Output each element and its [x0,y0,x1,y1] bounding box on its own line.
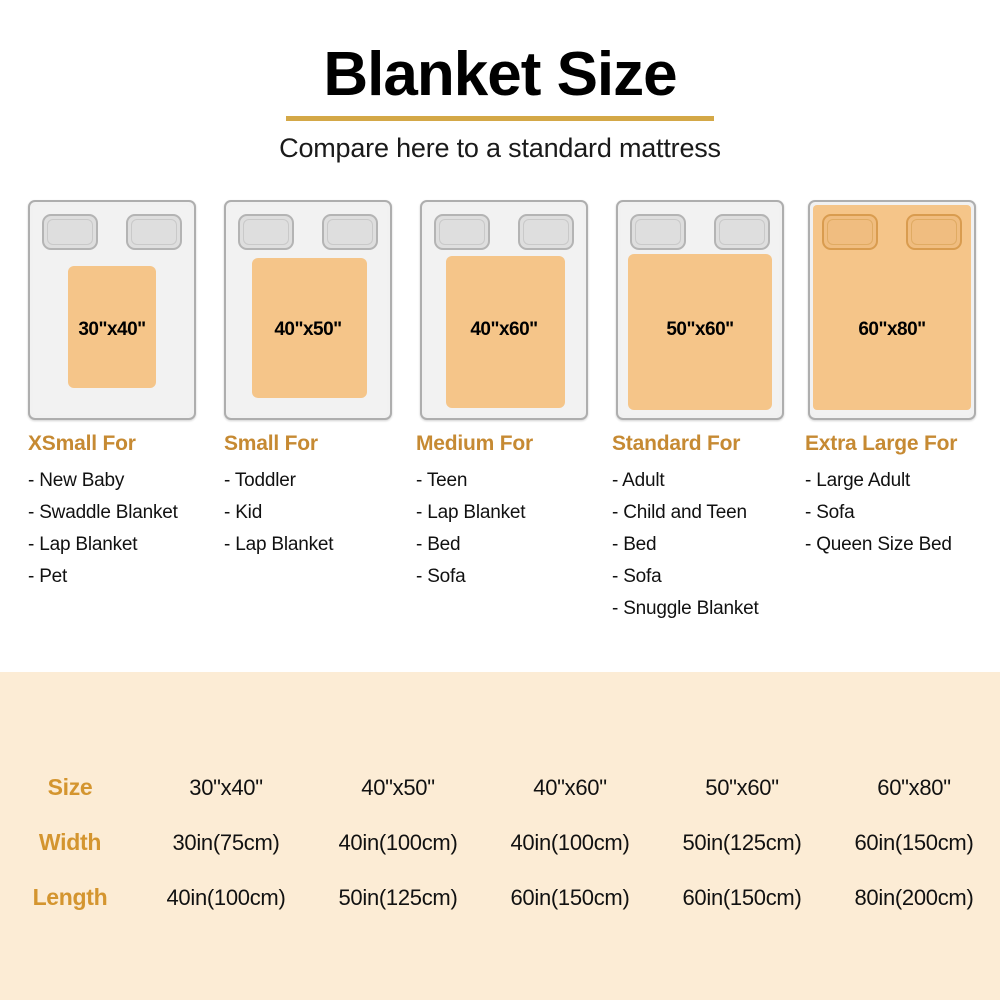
info-column-standard: Standard For - Adult - Child and Teen - … [612,432,759,630]
pillow-right-icon [518,214,574,250]
bed-diagram-xsmall: 30"x40" [28,200,196,420]
pillow-left-icon [630,214,686,250]
table-row-label: Width [0,815,140,870]
info-list-item: - Lap Blanket [28,534,178,556]
info-list-item: - Pet [28,566,178,588]
info-list-item: - Lap Blanket [416,502,533,524]
page-subtitle: Compare here to a standard mattress [0,133,1000,164]
table-cell: 80in(200cm) [828,870,1000,925]
info-list-item: - Bed [416,534,533,556]
table-cell: 60in(150cm) [656,870,828,925]
dimensions-panel: Size 30"x40" 40"x50" 40"x60" 50"x60" 60"… [0,672,1000,1000]
info-column-heading: Small For [224,432,333,456]
table-row: Length 40in(100cm) 50in(125cm) 60in(150c… [0,870,1000,925]
info-column-heading: Medium For [416,432,533,456]
table-cell: 40"x50" [312,760,484,815]
pillow-right-icon [714,214,770,250]
info-list-item: - Lap Blanket [224,534,333,556]
title-underline [286,116,714,121]
bed-diagram-standard: 50"x60" [616,200,784,420]
table-cell: 60"x80" [828,760,1000,815]
pillow-left-icon [238,214,294,250]
blanket-size-label: 40"x60" [420,319,588,341]
bed-diagram-medium: 40"x60" [420,200,588,420]
info-column-heading: Extra Large For [805,432,957,456]
table-row-label: Size [0,760,140,815]
pillow-right-icon [126,214,182,250]
info-list-item: - Sofa [416,566,533,588]
info-list-item: - Kid [224,502,333,524]
info-column-xsmall: XSmall For - New Baby - Swaddle Blanket … [28,432,178,598]
table-row: Width 30in(75cm) 40in(100cm) 40in(100cm)… [0,815,1000,870]
table-cell: 40"x60" [484,760,656,815]
info-column-heading: Standard For [612,432,759,456]
blanket-size-label: 50"x60" [616,319,784,341]
table-cell: 40in(100cm) [140,870,312,925]
table-cell: 60in(150cm) [484,870,656,925]
bed-diagram-small: 40"x50" [224,200,392,420]
blanket-size-label: 40"x50" [224,319,392,341]
table-row: Size 30"x40" 40"x50" 40"x60" 50"x60" 60"… [0,760,1000,815]
bed-diagram-extra-large: 60"x80" [808,200,976,420]
page-title: Blanket Size [323,44,676,114]
table-row-label: Length [0,870,140,925]
info-list-item: - Swaddle Blanket [28,502,178,524]
info-column-heading: XSmall For [28,432,178,456]
pillow-right-icon [322,214,378,250]
table-cell: 30in(75cm) [140,815,312,870]
table-cell: 50"x60" [656,760,828,815]
blanket-size-label: 60"x80" [808,319,976,341]
info-column-medium: Medium For - Teen - Lap Blanket - Bed - … [416,432,533,598]
bed-diagrams: 30"x40" 40"x50" 40"x60" 50"x60" [0,200,1000,425]
info-list-item: - Child and Teen [612,502,759,524]
info-list-item: - Bed [612,534,759,556]
blanket-size-label: 30"x40" [28,319,196,341]
table-cell: 40in(100cm) [312,815,484,870]
info-list-item: - Snuggle Blanket [612,598,759,620]
table-cell: 60in(150cm) [828,815,1000,870]
pillow-left-icon [42,214,98,250]
info-list-item: - Large Adult [805,470,957,492]
table-cell: 40in(100cm) [484,815,656,870]
info-list-item: - Sofa [612,566,759,588]
info-list-item: - Sofa [805,502,957,524]
info-column-small: Small For - Toddler - Kid - Lap Blanket [224,432,333,566]
page-header: Blanket Size Compare here to a standard … [0,0,1000,164]
info-list-item: - New Baby [28,470,178,492]
info-list-item: - Queen Size Bed [805,534,957,556]
info-list-item: - Toddler [224,470,333,492]
table-cell: 50in(125cm) [656,815,828,870]
pillow-left-icon [822,214,878,250]
table-cell: 30"x40" [140,760,312,815]
dimensions-table: Size 30"x40" 40"x50" 40"x60" 50"x60" 60"… [0,760,1000,925]
info-list-item: - Adult [612,470,759,492]
info-column-extra-large: Extra Large For - Large Adult - Sofa - Q… [805,432,957,566]
table-cell: 50in(125cm) [312,870,484,925]
pillow-left-icon [434,214,490,250]
info-list-item: - Teen [416,470,533,492]
pillow-right-icon [906,214,962,250]
